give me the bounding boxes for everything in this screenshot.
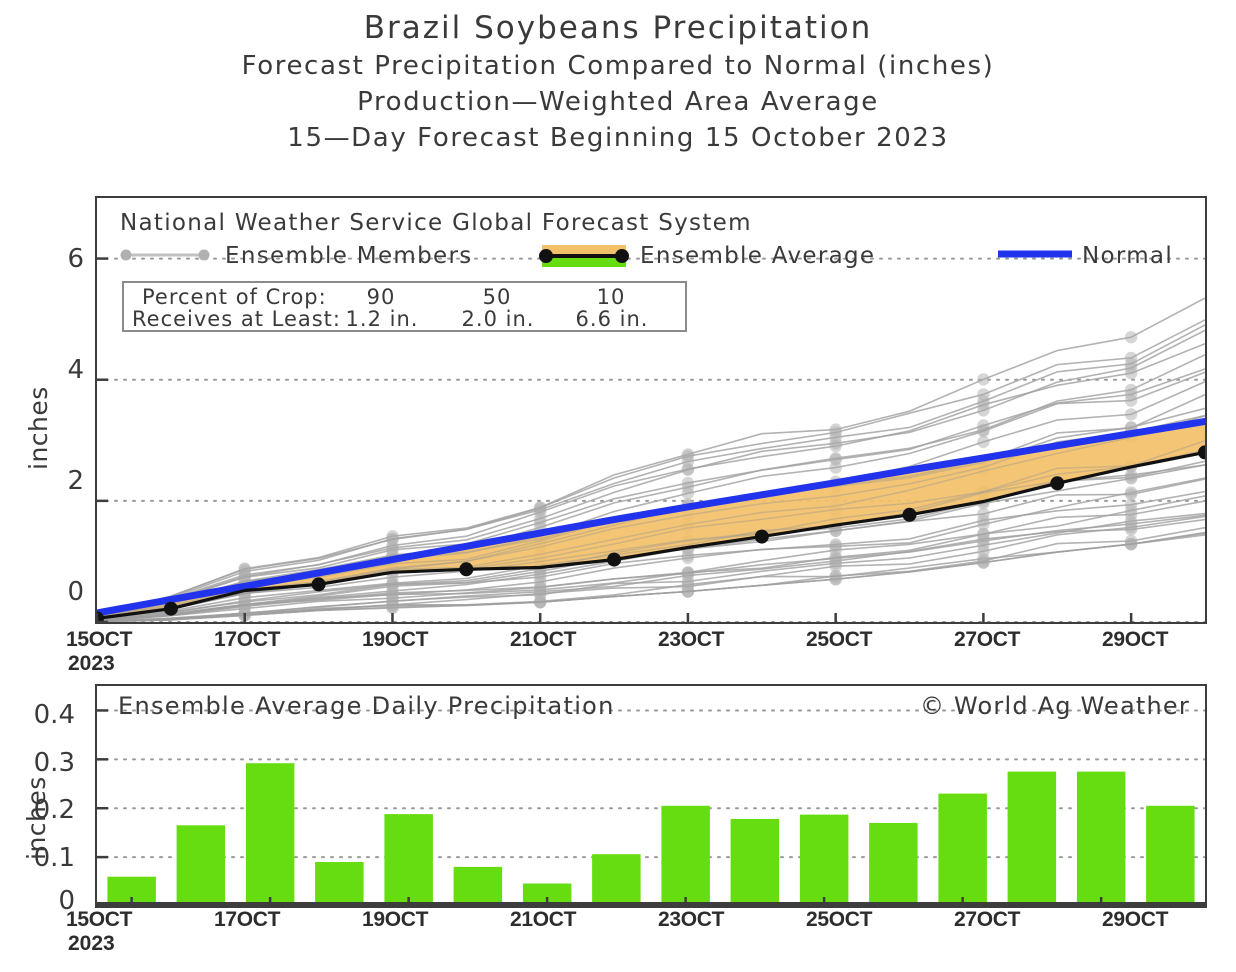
bot-xtick-6: 27OCT <box>954 908 1020 932</box>
chart-page: Brazil Soybeans Precipitation Forecast P… <box>0 0 1236 972</box>
top-xtick-year: 2023 <box>68 652 115 676</box>
bar <box>938 794 987 906</box>
bar <box>246 763 295 906</box>
bar <box>315 862 364 906</box>
ensemble-members-legend-icon <box>118 243 218 267</box>
bar <box>1077 772 1126 906</box>
daily-precip-bars <box>107 763 1194 906</box>
legend-ensemble-average-label: Ensemble Average <box>640 243 875 269</box>
bot-ytick-04: 0.4 <box>8 700 75 730</box>
stats-row2-label: Receives at Least: <box>132 307 341 331</box>
top-xtick-5: 25OCT <box>806 628 872 652</box>
bar <box>869 823 918 906</box>
bot-xtick-0: 15OCT <box>66 908 132 932</box>
top-xtick-4: 23OCT <box>658 628 724 652</box>
stats-percent-90: 90 <box>346 285 416 309</box>
copyright-label: © World Ag Weather <box>920 692 1190 720</box>
bottom-chart-title: Ensemble Average Daily Precipitation <box>118 692 615 720</box>
subtitle-3: 15—Day Forecast Beginning 15 October 202… <box>0 120 1236 156</box>
crop-percentile-stats-box: Percent of Crop: Receives at Least: 90 5… <box>122 281 687 332</box>
top-xtick-2: 19OCT <box>362 628 428 652</box>
legend-source-title: National Weather Service Global Forecast… <box>120 210 752 236</box>
legend-normal-label: Normal <box>1082 243 1173 269</box>
bot-xtick-4: 23OCT <box>658 908 724 932</box>
bar <box>592 854 641 906</box>
legend-ensemble-members-label: Ensemble Members <box>225 243 473 269</box>
bot-ytick-01: 0.1 <box>8 843 75 873</box>
bar <box>384 814 433 906</box>
ensemble-average-legend-icon <box>536 241 636 269</box>
top-y-axis-label: inches <box>24 386 53 470</box>
bar <box>731 819 780 906</box>
top-xtick-1: 17OCT <box>214 628 280 652</box>
bar <box>454 867 503 906</box>
top-xtick-0: 15OCT <box>66 628 132 652</box>
bot-ytick-02: 0.2 <box>8 795 75 825</box>
bot-ytick-03: 0.3 <box>8 748 75 778</box>
bar <box>1008 772 1057 906</box>
stats-percent-10: 10 <box>576 285 646 309</box>
main-title: Brazil Soybeans Precipitation <box>0 8 1236 48</box>
stats-amount-90: 1.2 in. <box>330 307 434 331</box>
top-xtick-3: 21OCT <box>510 628 576 652</box>
top-ytick-6: 6 <box>14 244 84 274</box>
top-ytick-4: 4 <box>14 355 84 385</box>
bot-xtick-1: 17OCT <box>214 908 280 932</box>
bot-xtick-7: 29OCT <box>1102 908 1168 932</box>
top-ytick-2: 2 <box>14 466 84 496</box>
subtitle-1: Forecast Precipitation Compared to Norma… <box>0 48 1236 84</box>
bar <box>800 815 849 906</box>
bot-xtick-year: 2023 <box>68 932 115 956</box>
bot-xtick-5: 25OCT <box>806 908 872 932</box>
bar <box>661 806 710 906</box>
chart-titles: Brazil Soybeans Precipitation Forecast P… <box>0 8 1236 156</box>
bot-xtick-2: 19OCT <box>362 908 428 932</box>
stats-amount-10: 6.6 in. <box>560 307 664 331</box>
normal-legend-icon <box>996 243 1076 265</box>
bar <box>177 825 226 906</box>
bar <box>1146 806 1195 906</box>
stats-row1-label: Percent of Crop: <box>142 285 327 309</box>
bot-xtick-3: 21OCT <box>510 908 576 932</box>
top-ytick-0: 0 <box>14 577 84 607</box>
top-xtick-6: 27OCT <box>954 628 1020 652</box>
top-xtick-7: 29OCT <box>1102 628 1168 652</box>
subtitle-2: Production—Weighted Area Average <box>0 84 1236 120</box>
stats-percent-50: 50 <box>462 285 532 309</box>
stats-amount-50: 2.0 in. <box>446 307 550 331</box>
